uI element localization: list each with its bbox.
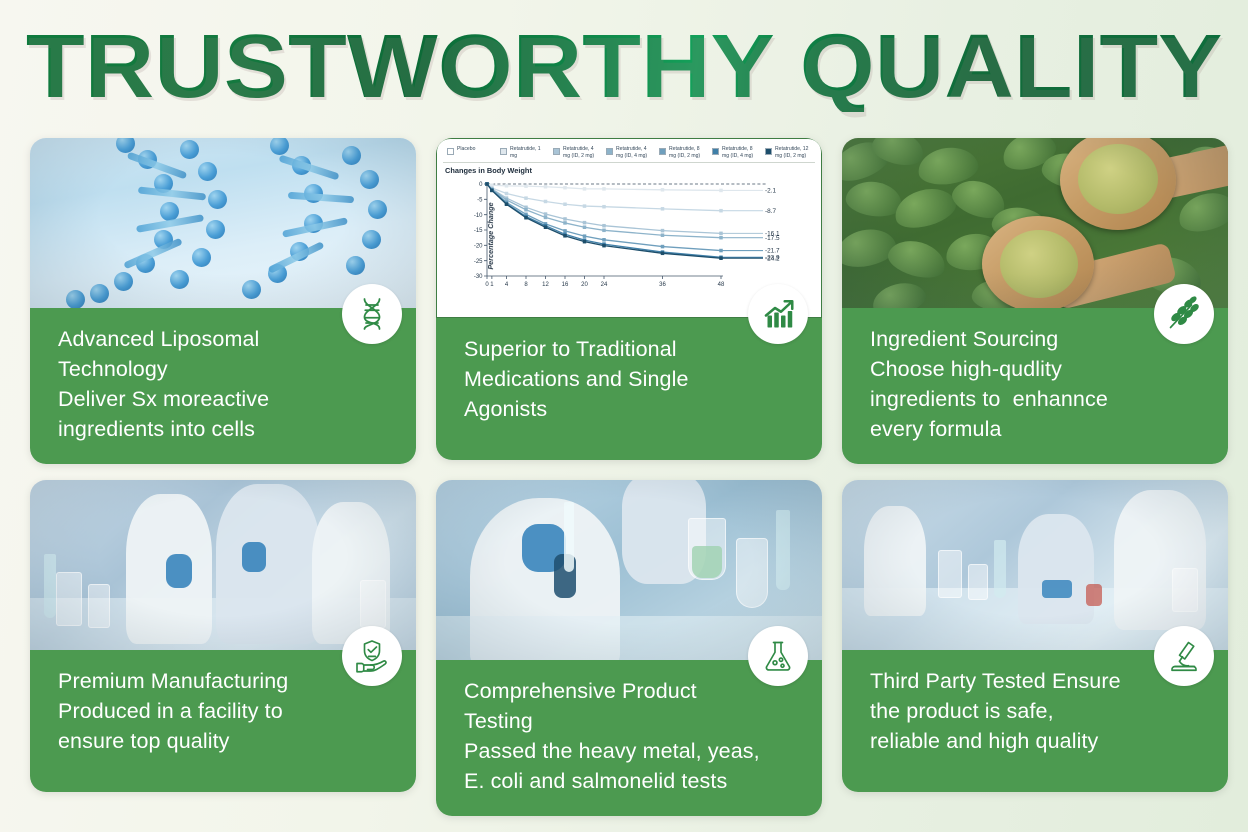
- caption-line: Comprehensive Product: [464, 676, 794, 706]
- svg-text:-8.7: -8.7: [765, 208, 776, 215]
- chart-plot-area: 0-5-10-15-20-25-300148121620243648-2.1-8…: [465, 176, 817, 296]
- legend-swatch: [712, 148, 719, 155]
- flask-icon-badge: [748, 626, 808, 686]
- legend-item: Retatrutide, 4 mg (ID, 4 mg): [606, 146, 654, 159]
- legend-item: Retatrutide, 4 mg (ID, 2 mg): [553, 146, 601, 159]
- legend-label: Retatrutide, 4 mg (ID, 2 mg): [563, 146, 601, 159]
- feature-card-third-party-tested[interactable]: Third Party Tested Ensure the product is…: [842, 480, 1228, 800]
- svg-text:-25: -25: [474, 259, 483, 265]
- lab-team-photo: [842, 480, 1228, 650]
- caption-line: Advanced Liposomal: [58, 324, 388, 354]
- legend-item: Retatrutide, 8 mg (ID, 2 mg): [659, 146, 707, 159]
- cleanroom-scientists-photo: [30, 480, 416, 650]
- svg-text:-24.2: -24.2: [765, 256, 780, 263]
- caption-line: Medications and Single: [464, 364, 794, 394]
- microscope-icon: [1166, 638, 1202, 674]
- page-title: TRUSTWORTHY QUALITY: [26, 22, 1223, 112]
- caption-line: Agonists: [464, 394, 794, 424]
- caption-line: ingredients into cells: [58, 414, 388, 444]
- legend-label: Retatrutide, 4 mg (ID, 4 mg): [616, 146, 654, 159]
- legend-item: Placebo: [447, 146, 495, 155]
- svg-text:-10: -10: [474, 213, 483, 219]
- flask-icon: [760, 638, 796, 674]
- caption-line: E. coli and salmonelid tests: [464, 766, 794, 796]
- legend-label: Retatrutide, 8 mg (ID, 2 mg): [669, 146, 707, 159]
- svg-text:4: 4: [505, 282, 509, 288]
- growth-chart-icon: [760, 296, 796, 332]
- caption-line: Passed the heavy metal, yeas,: [464, 736, 794, 766]
- svg-text:20: 20: [581, 282, 588, 288]
- header-banner: TRUSTWORTHY QUALITY: [0, 0, 1248, 120]
- legend-swatch: [659, 148, 666, 155]
- legend-swatch: [765, 148, 772, 155]
- caption-line: Testing: [464, 706, 794, 736]
- caption-line: ingredients to enhannce: [870, 384, 1200, 414]
- svg-text:8: 8: [524, 282, 528, 288]
- moringa-leaves-powder-photo: [842, 138, 1228, 308]
- feature-card-advanced-liposomal-technology[interactable]: Advanced Liposomal Technology Deliver Sx…: [30, 138, 416, 458]
- chart-title: Changes in Body Weight: [445, 166, 815, 175]
- caption-line: ensure top quality: [58, 726, 388, 756]
- svg-text:48: 48: [718, 282, 725, 288]
- caption-line: Third Party Tested Ensure: [870, 666, 1200, 696]
- hand-shield-check-icon-badge: [342, 626, 402, 686]
- caption-line: Ingredient Sourcing: [870, 324, 1200, 354]
- leaf-branch-icon: [1166, 296, 1202, 332]
- feature-card-premium-manufacturing[interactable]: Premium Manufacturing Produced in a faci…: [30, 480, 416, 800]
- caption-line: Choose high-qudlity: [870, 354, 1200, 384]
- svg-text:0: 0: [479, 182, 483, 188]
- hand-shield-check-icon: [354, 638, 390, 674]
- caption-line: Deliver Sx moreactive: [58, 384, 388, 414]
- feature-card-ingredient-sourcing[interactable]: Ingredient Sourcing Choose high-qudlity …: [842, 138, 1228, 458]
- feature-card-superior-to-traditional-medications[interactable]: Placebo Retatrutide, 1 mg Retatrutide, 4…: [436, 138, 822, 458]
- svg-text:36: 36: [659, 282, 666, 288]
- svg-text:-5: -5: [477, 198, 483, 204]
- legend-label: Retatrutide, 12 mg (ID, 2 mg): [775, 146, 813, 159]
- svg-text:-17.5: -17.5: [765, 235, 780, 242]
- svg-text:-30: -30: [474, 274, 483, 280]
- caption-line: reliable and high quality: [870, 726, 1200, 756]
- legend-label: Placebo: [457, 146, 475, 153]
- leaf-branch-icon-badge: [1154, 284, 1214, 344]
- legend-swatch: [447, 148, 454, 155]
- caption-line: Superior to Traditional: [464, 334, 794, 364]
- legend-label: Retatrutide, 1 mg: [510, 146, 548, 159]
- legend-swatch: [500, 148, 507, 155]
- dna-helix-photo: [30, 138, 416, 308]
- svg-text:24: 24: [601, 282, 608, 288]
- svg-text:-2.1: -2.1: [765, 188, 776, 195]
- svg-text:16: 16: [562, 282, 569, 288]
- chart-legend: Placebo Retatrutide, 1 mg Retatrutide, 4…: [443, 144, 815, 163]
- microscope-icon-badge: [1154, 626, 1214, 686]
- feature-card-comprehensive-product-testing[interactable]: Comprehensive Product Testing Passed the…: [436, 480, 822, 800]
- legend-item: Retatrutide, 8 mg (ID, 4 mg): [712, 146, 760, 159]
- svg-text:-15: -15: [474, 228, 483, 234]
- caption-line: Premium Manufacturing: [58, 666, 388, 696]
- legend-label: Retatrutide, 8 mg (ID, 4 mg): [722, 146, 760, 159]
- caption-line: every formula: [870, 414, 1200, 444]
- legend-item: Retatrutide, 1 mg: [500, 146, 548, 159]
- caption-line: the product is safe,: [870, 696, 1200, 726]
- growth-chart-icon-badge: [748, 284, 808, 344]
- dna-icon-badge: [342, 284, 402, 344]
- dna-icon: [354, 296, 390, 332]
- svg-text:12: 12: [542, 282, 549, 288]
- svg-text:0: 0: [485, 282, 489, 288]
- legend-swatch: [606, 148, 613, 155]
- caption-line: Produced in a facility to: [58, 696, 388, 726]
- legend-swatch: [553, 148, 560, 155]
- feature-card-caption: Comprehensive Product Testing Passed the…: [436, 660, 822, 816]
- legend-item: Retatrutide, 12 mg (ID, 2 mg): [765, 146, 813, 159]
- caption-line: Technology: [58, 354, 388, 384]
- svg-text:1: 1: [490, 282, 494, 288]
- svg-text:-20: -20: [474, 244, 483, 250]
- feature-card-grid: Advanced Liposomal Technology Deliver Sx…: [30, 138, 1220, 800]
